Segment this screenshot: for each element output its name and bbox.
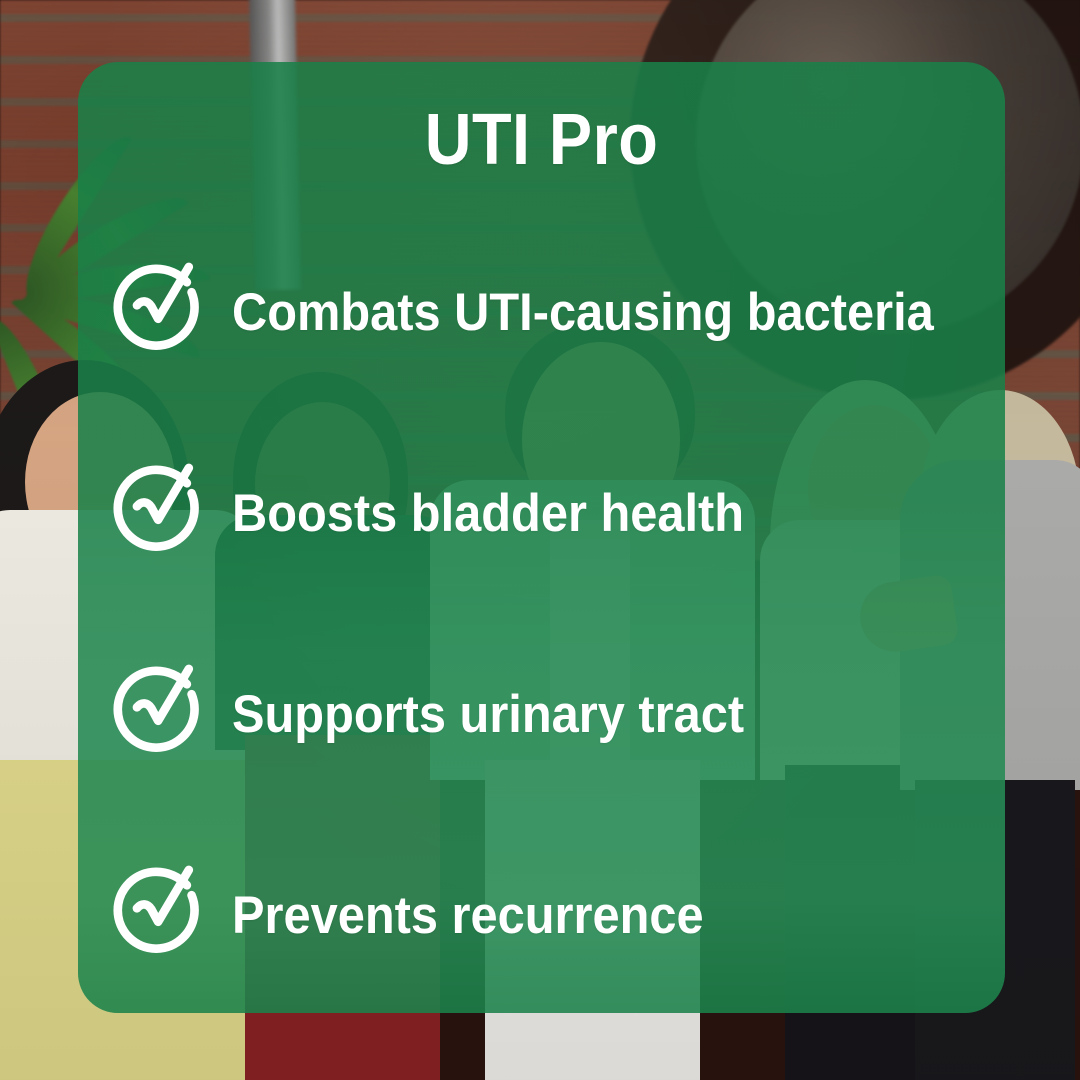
card-content: UTI Pro Combats UTI-causing bacteria bbox=[78, 62, 1005, 1013]
list-item: Prevents recurrence bbox=[112, 815, 992, 1016]
page-title: UTI Pro bbox=[124, 104, 958, 176]
check-circle-icon bbox=[112, 466, 208, 562]
check-circle-icon bbox=[112, 667, 208, 763]
product-benefits-graphic: UTI Pro Combats UTI-causing bacteria bbox=[0, 0, 1080, 1080]
list-item: Boosts bladder health bbox=[112, 413, 992, 614]
list-item-label: Supports urinary tract bbox=[232, 688, 744, 741]
check-circle-icon bbox=[112, 265, 208, 361]
benefits-list: Combats UTI-causing bacteria Boosts blad… bbox=[112, 212, 992, 1016]
list-item-label: Combats UTI-causing bacteria bbox=[232, 286, 934, 339]
list-item-label: Boosts bladder health bbox=[232, 487, 744, 540]
list-item: Combats UTI-causing bacteria bbox=[112, 212, 992, 413]
list-item: Supports urinary tract bbox=[112, 614, 992, 815]
list-item-label: Prevents recurrence bbox=[232, 889, 704, 942]
check-circle-icon bbox=[112, 868, 208, 964]
